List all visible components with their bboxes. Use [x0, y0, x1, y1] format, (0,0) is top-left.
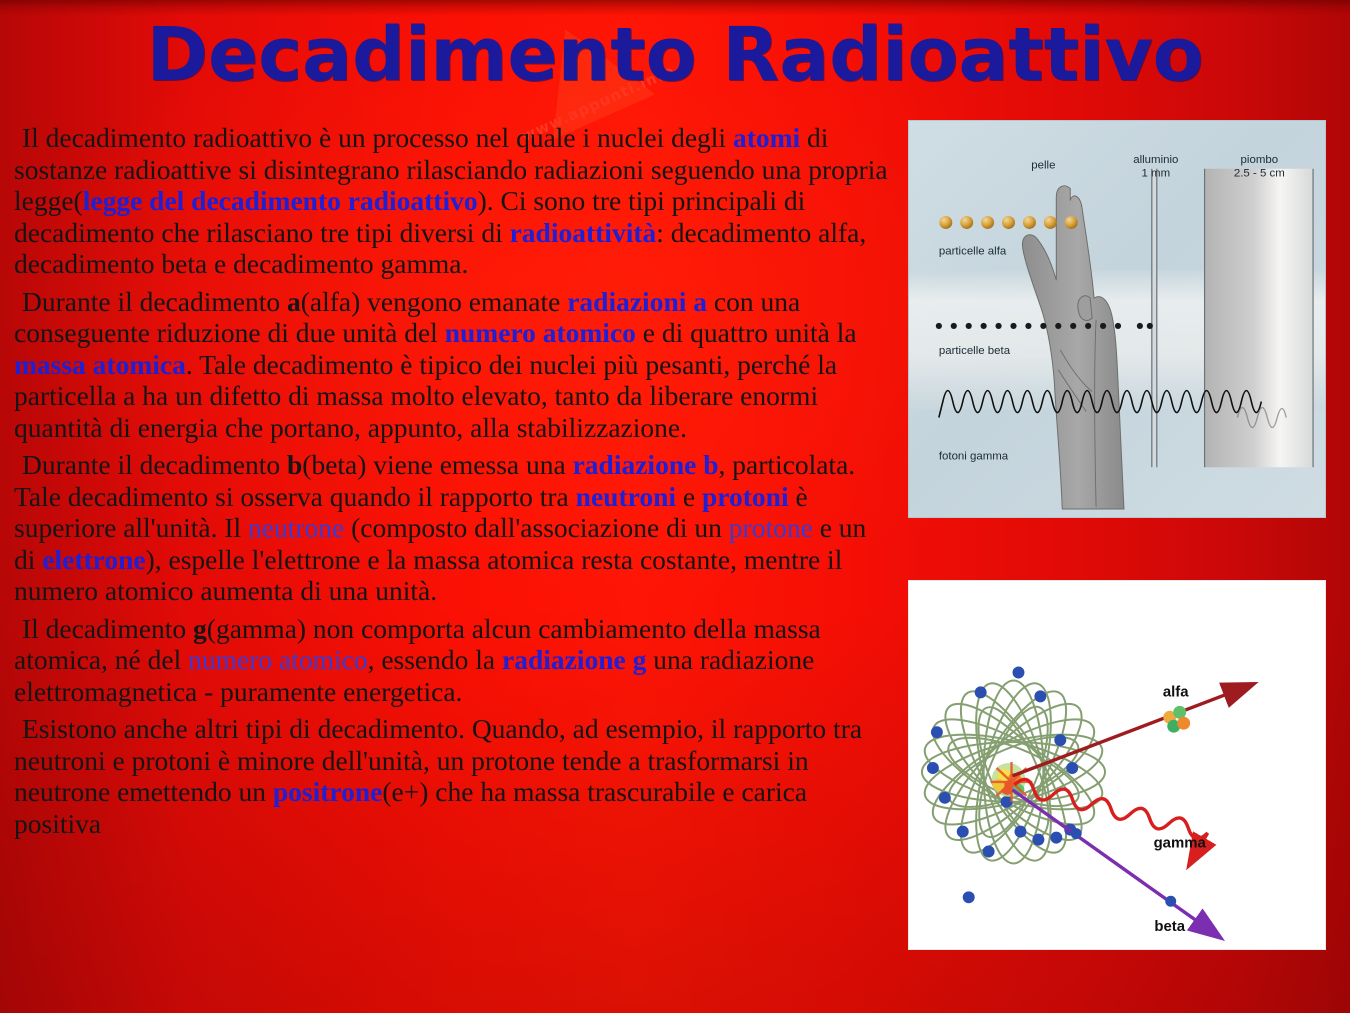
text-run-bold-blue: legge del decadimento radioattivo [83, 185, 478, 216]
text-run-bold-dark: a [287, 286, 301, 317]
text-run-bold-blue: radioattività [510, 217, 657, 248]
slide-body-text: Il decadimento radioattivo è un processo… [14, 122, 894, 839]
paragraph-5: Esistono anche altri tipi di decadimento… [14, 713, 894, 839]
slide-title: Decadimento Radioattivo [0, 8, 1350, 102]
paragraph-3: Durante il decadimento b(beta) viene eme… [14, 449, 894, 607]
label-fotoni-gamma: fotoni gamma [939, 450, 1009, 462]
lead-block [1205, 169, 1313, 467]
paragraph-2: Durante il decadimento a(alfa) vengono e… [14, 286, 894, 444]
text-run-bold-blue: elettrone [42, 544, 145, 575]
label-alfa: alfa [1163, 683, 1189, 700]
text-run-plain-blue: protone [729, 512, 813, 543]
label-piombo: piombo [1241, 154, 1279, 166]
label-alluminio: alluminio [1133, 154, 1178, 166]
text-run-bold-blue: numero atomico [445, 317, 636, 348]
text-run-bold-blue: radiazione b [573, 449, 719, 480]
paragraph-4: Il decadimento g(gamma) non comporta alc… [14, 613, 894, 708]
label-particelle-alfa: particelle alfa [939, 245, 1007, 257]
text-run-bold-dark: b [287, 449, 302, 480]
shielding-diagram: pelle alluminio 1 mm piombo 2.5 - 5 cm p… [909, 121, 1325, 517]
text-run-bold-blue: massa atomica [14, 349, 186, 380]
label-beta: beta [1154, 918, 1185, 935]
text-run-bold-blue: neutroni [576, 481, 676, 512]
label-pelle: pelle [1031, 160, 1055, 172]
beta-electron-2 [1165, 896, 1176, 907]
paragraph-1: Il decadimento radioattivo è un processo… [14, 122, 894, 280]
label-gamma: gamma [1154, 835, 1207, 852]
figure-atom-decay: alfa gamma beta [908, 580, 1326, 950]
text-run-bold-dark: g [193, 613, 207, 644]
text-run-bold-blue: positrone [273, 776, 383, 807]
text-run-bold-blue: radiazioni a [567, 286, 707, 317]
label-alluminio-spessore: 1 mm [1142, 168, 1171, 180]
text-run-bold-blue: protoni [702, 481, 789, 512]
beta-electron [1071, 828, 1082, 839]
text-run-plain-blue: neutrone [248, 512, 344, 543]
text-run-bold-blue: atomi [733, 122, 800, 153]
text-run-bold-blue: radiazione g [502, 644, 646, 675]
figure-radiation-shielding: pelle alluminio 1 mm piombo 2.5 - 5 cm p… [908, 120, 1326, 518]
nucleus [991, 762, 1033, 802]
atom-decay-diagram: alfa gamma beta [909, 581, 1325, 949]
label-piombo-spessore: 2.5 - 5 cm [1234, 168, 1285, 180]
label-particelle-beta: particelle beta [939, 345, 1011, 357]
text-run-plain-blue: numero atomico [188, 644, 367, 675]
aluminium-sheet [1152, 169, 1157, 467]
